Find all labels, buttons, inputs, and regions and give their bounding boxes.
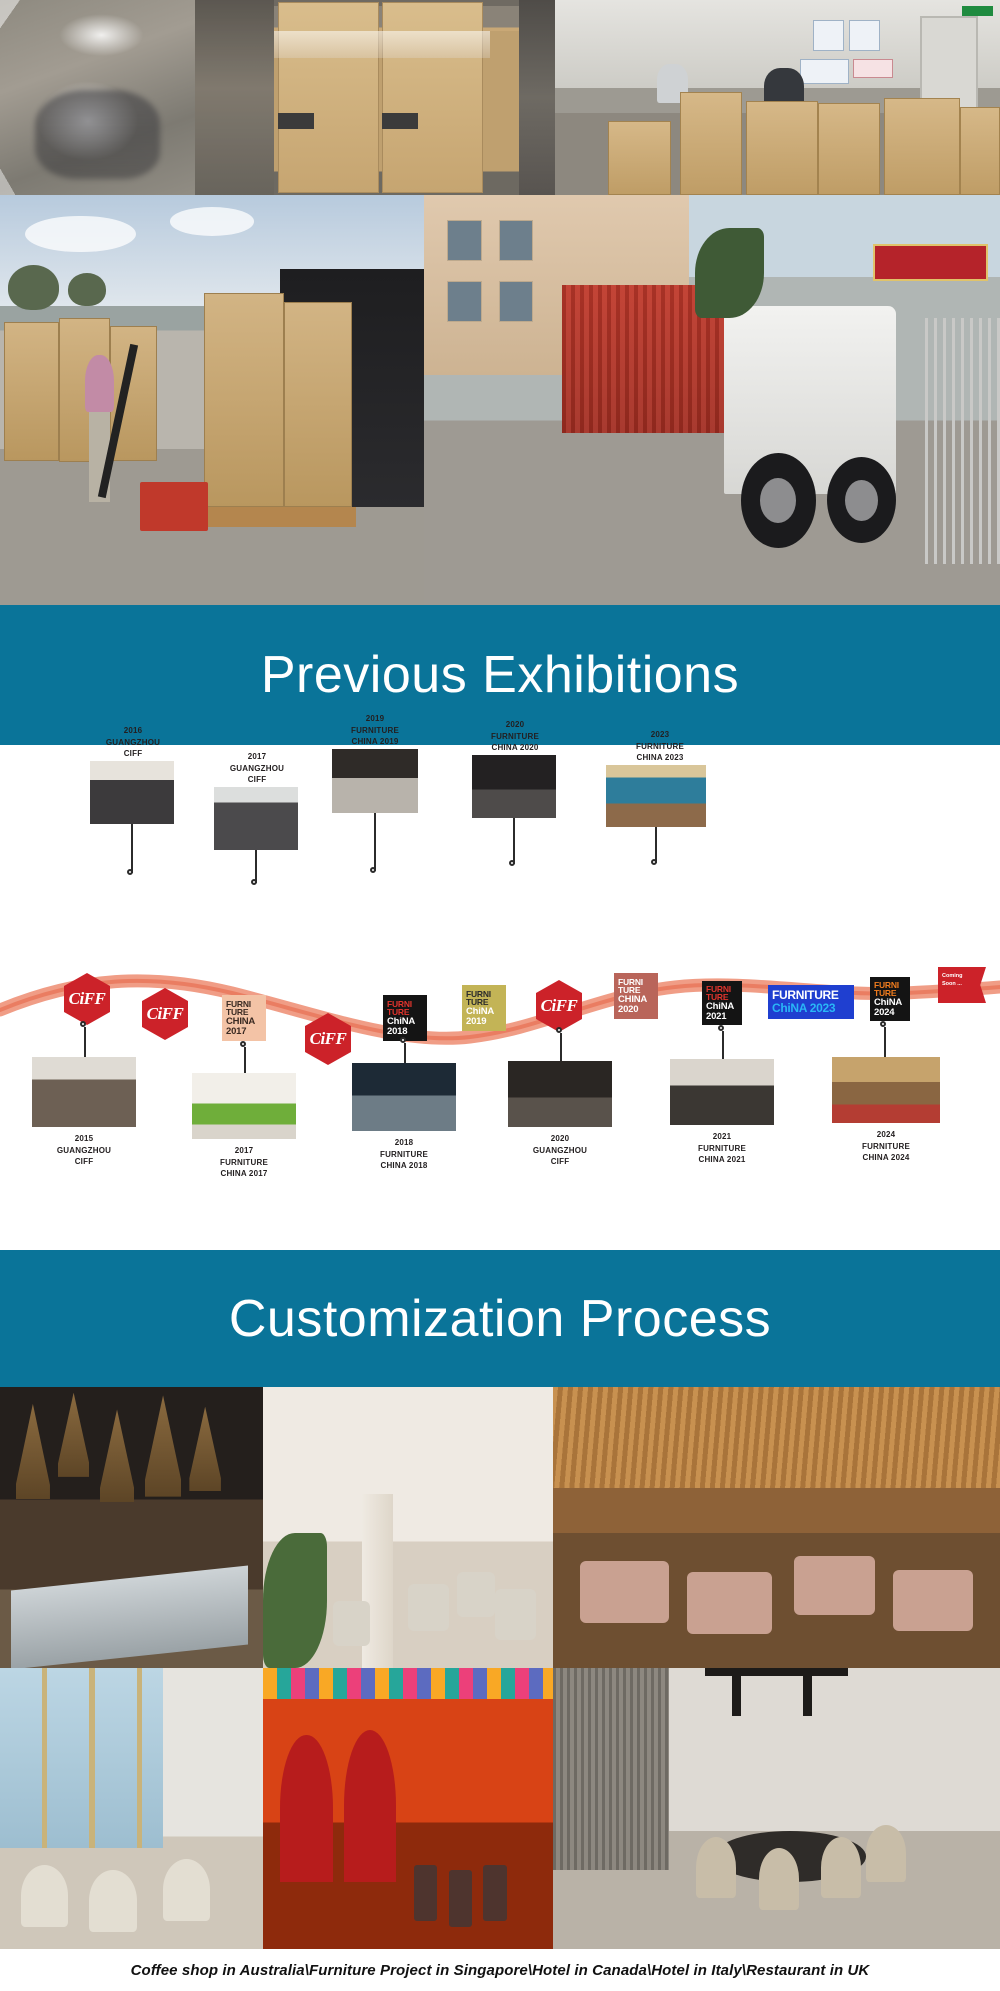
photo-wood-ceiling-lounge	[553, 1387, 1000, 1668]
timeline-label-2015: 2015 GUANGZHOU CIFF	[32, 1133, 136, 1168]
timeline-label-2017-fc: 2017 FURNITURE CHINA 2017	[192, 1145, 296, 1180]
timeline-label-2024: 2024 FURNITURE CHINA 2024	[832, 1129, 940, 1164]
timeline-photo-2024	[832, 1057, 940, 1123]
photo-hotel-lobby-lounge	[263, 1387, 553, 1668]
badge-ciff-2015-text: CiFF	[69, 989, 106, 1009]
project-photo-row-top	[0, 1387, 1000, 1668]
timeline-photo-2021	[670, 1059, 774, 1125]
photo-restaurant-long-table	[0, 1387, 263, 1668]
badge-coming-soon-text: Coming Soon ...	[942, 973, 962, 987]
timeline-photo-2020-fc	[472, 755, 556, 818]
timeline-label-2017-ciff: 2017 GUANGZHOU CIFF	[202, 751, 312, 786]
timeline-label-2018: 2018 FURNITURE CHINA 2018	[352, 1137, 456, 1172]
shipping-photo-row	[0, 195, 1000, 605]
badge-coming-soon: Coming Soon ...	[938, 967, 986, 1003]
badge-fc2017-line4: 2017	[226, 1027, 246, 1037]
photo-glass-facade-cafe	[0, 1668, 263, 1949]
badge-furniture-china-2017: FURNI TURE CHINA 2017	[222, 995, 266, 1041]
badge-furniture-china-2018: FURNI TURE ChiNA 2018	[383, 995, 427, 1041]
banner-customization-process-title: Customization Process	[229, 1293, 771, 1345]
timeline-photo-2017-fc	[192, 1073, 296, 1139]
timeline-label-2019: 2019 FURNITURE CHINA 2019	[320, 713, 430, 748]
projects-caption: Coffee shop in Australia\Furniture Proje…	[0, 1950, 1000, 1991]
project-photo-row-bottom	[0, 1668, 1000, 1949]
badge-ciff-2017-text: CiFF	[310, 1029, 347, 1049]
photo-container-truck	[424, 195, 1000, 605]
badge-furniture-china-2021: FURNI TURE ChiNA 2021	[702, 981, 742, 1025]
timeline-label-2020-fc: 2020 FURNITURE CHINA 2020	[460, 719, 570, 754]
banner-customization-process: Customization Process	[0, 1250, 1000, 1387]
photo-factory-packing	[555, 0, 1000, 195]
badge-fc2018-line4: 2018	[387, 1027, 407, 1037]
timeline-label-2020-ciff: 2020 GUANGZHOU CIFF	[508, 1133, 612, 1168]
timeline-photo-2023	[606, 765, 706, 827]
timeline-photo-2020-ciff	[508, 1061, 612, 1127]
timeline-label-2016: 2016 GUANGZHOU CIFF	[78, 725, 188, 760]
badge-fc2023-line2: ChiNA 2023	[772, 1002, 850, 1015]
timeline-photo-2017-ciff	[214, 787, 298, 850]
photo-pallet-jack-loading	[0, 195, 424, 605]
badge-fc2019-line4: 2019	[466, 1017, 486, 1027]
timeline-photo-2015	[32, 1057, 136, 1127]
photo-cartons-on-pallet	[195, 0, 555, 195]
badge-ciff-2016-text: CiFF	[147, 1004, 184, 1024]
badge-furniture-china-2020: FURNI TURE CHINA 2020	[614, 973, 658, 1019]
badge-furniture-china-2019: FURNI TURE ChiNA 2019	[462, 985, 506, 1031]
badge-furniture-china-2023: FURNITURE ChiNA 2023	[768, 985, 854, 1019]
packaging-photo-row	[0, 0, 1000, 195]
exhibition-timeline: 2016 GUANGZHOU CIFF 2017 GUANGZHOU CIFF …	[0, 745, 1000, 1250]
banner-previous-exhibitions-title: Previous Exhibitions	[261, 649, 739, 701]
badge-fc2021-line4: 2021	[706, 1012, 726, 1022]
photo-plastic-wrapped-chairs	[0, 0, 195, 195]
timeline-label-2023: 2023 FURNITURE CHINA 2023	[600, 729, 720, 764]
badge-furniture-china-2024: FURNI TURE ChiNA 2024	[870, 977, 910, 1021]
badge-fc2024-line4: 2024	[874, 1008, 894, 1018]
project-photo-grid	[0, 1387, 1000, 1950]
timeline-label-2021: 2021 FURNITURE CHINA 2021	[670, 1131, 774, 1166]
product-detail-page: Previous Exhibitions 2016 GUANGZHOU CIFF…	[0, 0, 1000, 1991]
badge-fc2020-line4: 2020	[618, 1005, 638, 1015]
photo-meeting-room	[553, 1668, 1000, 1949]
timeline-photo-2016	[90, 761, 174, 824]
photo-colourful-bar	[263, 1668, 553, 1949]
timeline-photo-2019	[332, 749, 418, 813]
badge-ciff-2020-text: CiFF	[541, 996, 578, 1016]
timeline-photo-2018	[352, 1063, 456, 1131]
projects-caption-text: Coffee shop in Australia\Furniture Proje…	[131, 1962, 870, 1979]
